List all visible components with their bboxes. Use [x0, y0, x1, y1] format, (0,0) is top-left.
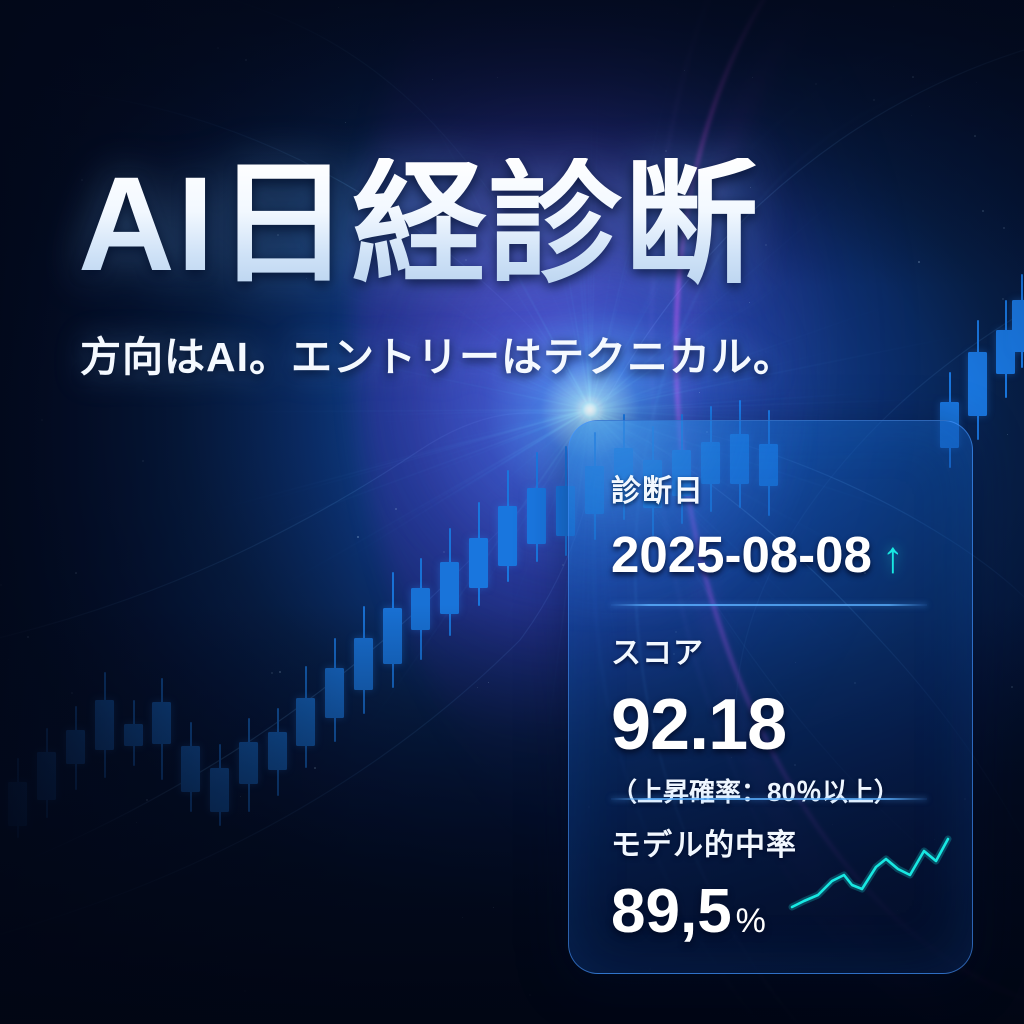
accuracy-sparkline — [788, 831, 956, 917]
date-value: 2025-08-08 — [611, 529, 872, 580]
score-label: スコア — [611, 639, 938, 669]
date-field: 診断日 2025-08-08 ↑ — [611, 477, 938, 580]
score-value: 92.18 — [611, 689, 938, 761]
score-field: スコア 92.18 （上昇確率：80％以上） — [611, 639, 938, 805]
accuracy-unit: % — [736, 904, 766, 938]
date-value-row: 2025-08-08 ↑ — [611, 529, 938, 580]
poster-canvas: AI日経診断 方向はAI。エントリーはテクニカル。 診断日 2025-08-08… — [0, 0, 1024, 1024]
page-subtitle: 方向はAI。エントリーはテクニカル。 — [80, 337, 960, 378]
divider-1 — [611, 604, 927, 606]
trend-up-icon: ↑ — [882, 536, 904, 580]
page-title: AI日経診断 — [78, 158, 938, 292]
divider-2 — [611, 798, 927, 800]
accuracy-value: 89,5 — [611, 881, 732, 943]
diagnosis-card: 診断日 2025-08-08 ↑ スコア 92.18 （上昇確率：80％以上） … — [568, 420, 973, 974]
date-label: 診断日 — [611, 477, 938, 507]
score-note: （上昇確率：80％以上） — [611, 779, 938, 805]
